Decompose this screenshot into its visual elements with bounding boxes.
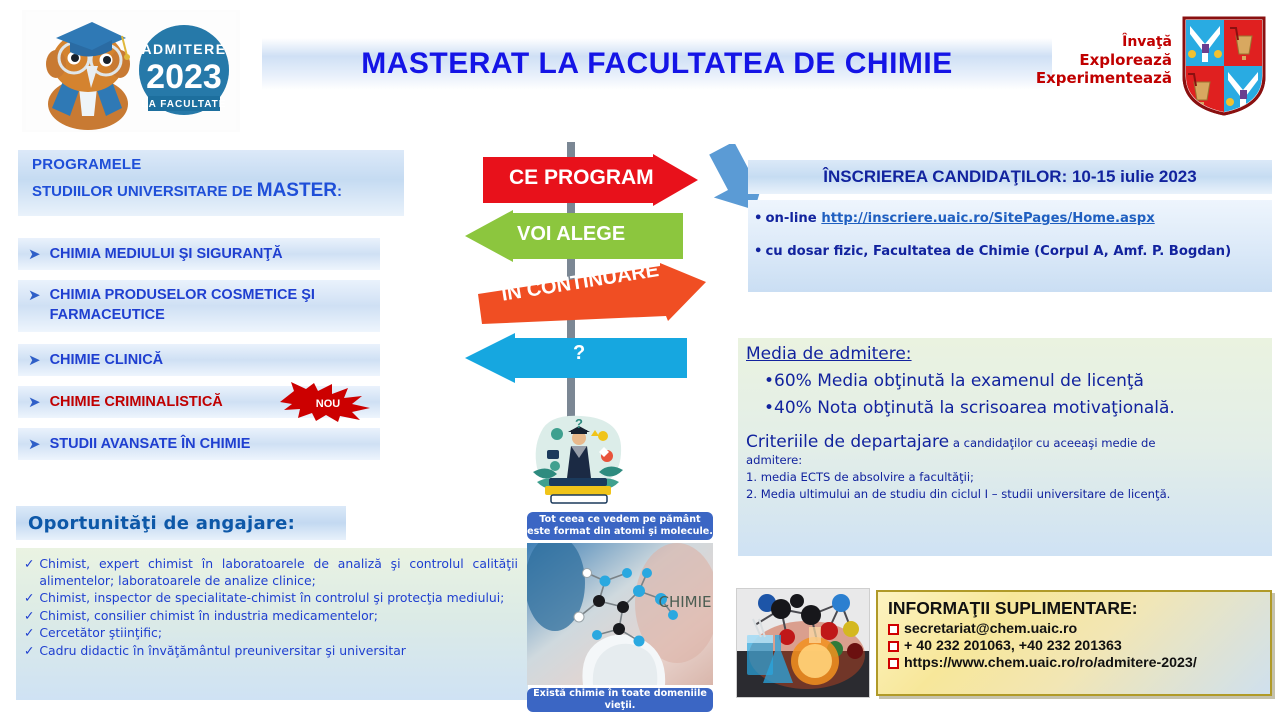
signpost-label: ? xyxy=(573,342,585,365)
new-program-badge: NOU xyxy=(278,382,378,422)
badge-year-text: 2023 xyxy=(146,58,222,96)
registration-item-prefix: cu dosar fizic, Facultatea de Chimie (Co… xyxy=(765,244,1231,259)
molecule-model-in-hand-photo: CHIMIE xyxy=(527,543,713,685)
extra-info-website: https://www.chem.uaic.ro/ro/admitere-202… xyxy=(904,655,1197,671)
red-square-bullet-icon xyxy=(888,641,899,652)
graduate-on-books-illustration: ? xyxy=(527,412,631,513)
signpost-arrow-voi-alege: VOI ALEGE xyxy=(465,210,683,262)
mascot-owl-graduate-icon: ADMITERE 2023 LA FACULTATE xyxy=(26,12,236,130)
admission-criteria-panel: Media de admitere: •60% Media obţinută l… xyxy=(738,338,1272,556)
programs-heading-suffix: : xyxy=(337,183,342,200)
admission-bullet-label: 40% Nota obţinută la scrisoarea motivaţi… xyxy=(774,398,1175,418)
chevron-right-icon: ➤ xyxy=(28,351,41,369)
signpost-arrow-question: ? xyxy=(465,333,687,383)
university-tagline: Învaţă Explorează Experimentează xyxy=(1036,34,1172,88)
criteria-title: Criteriile de departajare a candidaţilor… xyxy=(746,432,1264,452)
program-item-label: CHIMIA MEDIULUI ŞI SIGURANŢĂ xyxy=(50,246,283,262)
list-item: ✓ Cercetător ştiinţific; xyxy=(24,625,518,642)
red-square-bullet-icon xyxy=(888,658,899,669)
program-item-studii-avansate[interactable]: ➤ STUDII AVANSATE ÎN CHIMIE xyxy=(18,428,380,460)
extra-info-item[interactable]: + 40 232 201063, +40 232 201363 xyxy=(888,638,1270,654)
admission-mascot-logo: ADMITERE 2023 LA FACULTATE xyxy=(22,10,240,132)
programs-heading-strong: MASTER xyxy=(257,180,337,201)
list-item: ✓ Cadru didactic în învăţământul preuniv… xyxy=(24,643,518,660)
opportunity-label: Chimist, inspector de specialitate-chimi… xyxy=(39,590,504,607)
badge-admitere-text: ADMITERE xyxy=(141,41,226,57)
criteria-item: 2. Media ultimului an de studiu din cicl… xyxy=(746,487,1264,501)
admission-bullet: •40% Nota obţinută la scrisoarea motivaţ… xyxy=(764,398,1264,418)
new-badge-label: NOU xyxy=(316,398,341,410)
registration-heading-label: ÎNSCRIEREA CANDIDAŢILOR: 10-15 iulie 202… xyxy=(823,167,1196,187)
opportunity-label: Chimist, expert chimist în laboratoarele… xyxy=(39,556,518,589)
red-square-bullet-icon xyxy=(888,624,899,635)
tagline-line-3: Experimentează xyxy=(1036,69,1172,87)
program-item-produse-cosmetice[interactable]: ➤ CHIMIA PRODUSELOR COSMETICE ŞI FARMACE… xyxy=(18,280,380,332)
programs-heading: PROGRAMELE STUDIILOR UNIVERSITARE DE MAS… xyxy=(18,150,404,216)
chevron-right-icon: ➤ xyxy=(28,286,41,304)
admission-bullet-label: 60% Media obţinută la examenul de licenţ… xyxy=(774,371,1144,391)
signpost-arrow-ce-program: CE PROGRAM xyxy=(483,154,698,206)
bullet-icon: • xyxy=(754,211,762,226)
criteria-title-main: Criteriile de departajare xyxy=(746,432,949,452)
programs-heading-line1: PROGRAMELE xyxy=(32,156,404,173)
center-caption-bottom: Există chimie în toate domeniile vieţii. xyxy=(527,688,713,712)
program-item-chimie-clinica[interactable]: ➤ CHIMIE CLINICĂ xyxy=(18,344,380,376)
opportunities-list: ✓ Chimist, expert chimist în laboratoare… xyxy=(16,548,528,700)
check-icon: ✓ xyxy=(24,643,34,660)
tagline-line-1: Învaţă xyxy=(1036,34,1172,51)
program-item-label: CHIMIE CRIMINALISTICĂ xyxy=(50,394,223,410)
svg-text:?: ? xyxy=(575,416,583,431)
registration-heading: ÎNSCRIEREA CANDIDAŢILOR: 10-15 iulie 202… xyxy=(748,160,1272,194)
opportunities-heading: Oportunităţi de angajare: xyxy=(16,506,346,540)
opportunity-label: Cadru didactic în învăţământul preuniver… xyxy=(39,643,406,660)
admission-bullet: •60% Media obţinută la examenul de licen… xyxy=(764,371,1264,391)
extra-info-title: INFORMAŢII SUPLIMENTARE: xyxy=(888,598,1270,619)
registration-link[interactable]: http://inscriere.uaic.ro/SitePages/Home.… xyxy=(821,211,1154,226)
university-crest-icon xyxy=(1180,14,1268,123)
extra-info-panel: INFORMAŢII SUPLIMENTARE: secretariat@che… xyxy=(876,590,1272,696)
list-item: ✓ Chimist, consilier chimist în industri… xyxy=(24,608,518,625)
program-item-label: STUDII AVANSATE ÎN CHIMIE xyxy=(50,436,251,452)
opportunities-heading-label: Oportunităţi de angajare: xyxy=(28,513,295,534)
list-item: •on-line http://inscriere.uaic.ro/SitePa… xyxy=(754,211,1272,226)
check-icon: ✓ xyxy=(24,556,34,589)
check-icon: ✓ xyxy=(24,608,34,625)
criteria-subtitle-2: admitere: xyxy=(746,453,1264,467)
signpost-arrow-in-continuare: ÎN CONTINUARE xyxy=(478,262,706,324)
center-caption-top: Tot ceea ce vedem pe pământ este format … xyxy=(527,512,713,540)
chevron-right-icon: ➤ xyxy=(28,245,41,263)
check-icon: ✓ xyxy=(24,625,34,642)
program-item-chimia-mediului[interactable]: ➤ CHIMIA MEDIULUI ŞI SIGURANŢĂ xyxy=(18,238,380,270)
chevron-right-icon: ➤ xyxy=(28,393,41,411)
chemistry-flasks-photo xyxy=(736,588,870,698)
extra-info-item[interactable]: https://www.chem.uaic.ro/ro/admitere-202… xyxy=(888,655,1270,671)
list-item: ✓ Chimist, inspector de specialitate-chi… xyxy=(24,590,518,607)
photo-overlay-text: CHIMIE xyxy=(658,593,711,611)
program-item-label: CHIMIA PRODUSELOR COSMETICE ŞI FARMACEUT… xyxy=(50,286,380,325)
opportunity-label: Chimist, consilier chimist în industria … xyxy=(39,608,378,625)
registration-item-prefix: on-line xyxy=(765,211,821,226)
criteria-item: 1. media ECTS de absolvire a facultăţii; xyxy=(746,470,1264,484)
tagline-line-2: Explorează xyxy=(1036,51,1172,69)
programs-heading-prefix: STUDIILOR UNIVERSITARE DE xyxy=(32,183,257,200)
page-title: MASTERAT LA FACULTATEA DE CHIMIE xyxy=(361,47,953,81)
criteria-title-sub: a candidaţilor cu aceeaşi medie de xyxy=(949,436,1155,450)
extra-info-item[interactable]: secretariat@chem.uaic.ro xyxy=(888,621,1270,637)
list-item: ✓ Chimist, expert chimist în laboratoare… xyxy=(24,556,518,589)
opportunity-label: Cercetător ştiinţific; xyxy=(39,625,162,642)
bullet-icon: • xyxy=(754,244,762,259)
program-item-label: CHIMIE CLINICĂ xyxy=(50,352,164,368)
programs-heading-line2: STUDIILOR UNIVERSITARE DE MASTER: xyxy=(32,180,404,202)
check-icon: ✓ xyxy=(24,590,34,607)
admission-title: Media de admitere: xyxy=(746,344,1264,364)
list-item: •cu dosar fizic, Facultatea de Chimie (C… xyxy=(754,244,1272,259)
signpost-label: VOI ALEGE xyxy=(517,223,625,246)
registration-details: •on-line http://inscriere.uaic.ro/SitePa… xyxy=(748,200,1272,292)
poster-root: ADMITERE 2023 LA FACULTATE MASTERAT LA F… xyxy=(0,0,1280,720)
signpost-label: CE PROGRAM xyxy=(509,166,654,190)
extra-info-email: secretariat@chem.uaic.ro xyxy=(904,621,1077,637)
poster-title-bar: MASTERAT LA FACULTATEA DE CHIMIE xyxy=(262,38,1052,90)
extra-info-phone: + 40 232 201063, +40 232 201363 xyxy=(904,638,1122,654)
chevron-right-icon: ➤ xyxy=(28,435,41,453)
badge-la-facultate-text: LA FACULTATE xyxy=(142,99,227,110)
